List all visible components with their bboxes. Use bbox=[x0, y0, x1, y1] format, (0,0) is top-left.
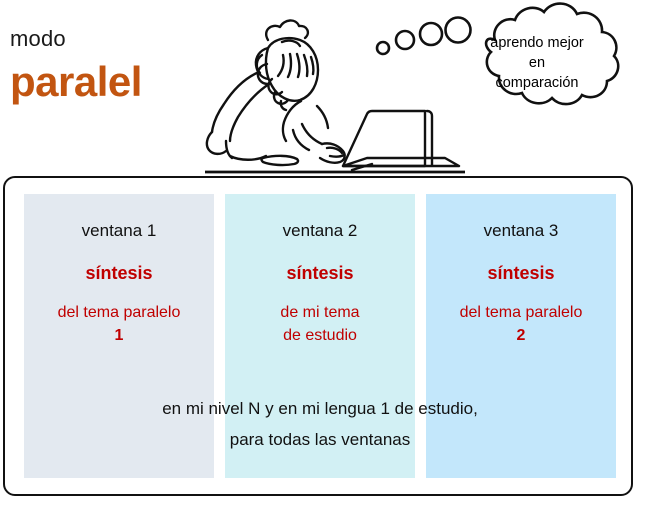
header-area: modo paralel bbox=[0, 0, 657, 176]
synthesis-detail-2-line-1: de mi tema bbox=[225, 301, 415, 324]
window-column-3[interactable]: ventana 3 síntesis del tema paralelo 2 bbox=[426, 194, 616, 478]
synthesis-detail-3-line-1: del tema paralelo bbox=[426, 301, 616, 324]
mode-name: paralel bbox=[10, 58, 220, 106]
windows-columns: ventana 1 síntesis del tema paralelo 1 v… bbox=[24, 194, 616, 478]
synthesis-detail-1-line-2: 1 bbox=[24, 324, 214, 347]
synthesis-detail-2-line-2: de estudio bbox=[225, 324, 415, 347]
window-label-1: ventana 1 bbox=[24, 220, 214, 242]
synthesis-detail-2: de mi tema de estudio bbox=[225, 301, 415, 347]
window-column-2[interactable]: ventana 2 síntesis de mi tema de estudio bbox=[225, 194, 415, 478]
synthesis-detail-1-line-1: del tema paralelo bbox=[24, 301, 214, 324]
synthesis-detail-1: del tema paralelo 1 bbox=[24, 301, 214, 347]
window-label-3: ventana 3 bbox=[426, 220, 616, 242]
title-block: modo paralel bbox=[10, 26, 220, 106]
synthesis-heading-1: síntesis bbox=[24, 262, 214, 285]
window-label-2: ventana 2 bbox=[225, 220, 415, 242]
window-column-1[interactable]: ventana 1 síntesis del tema paralelo 1 bbox=[24, 194, 214, 478]
mode-label: modo bbox=[10, 26, 220, 52]
synthesis-heading-2: síntesis bbox=[225, 262, 415, 285]
thought-bubble-icon bbox=[375, 2, 655, 152]
windows-panel: ventana 1 síntesis del tema paralelo 1 v… bbox=[3, 176, 633, 496]
synthesis-heading-3: síntesis bbox=[426, 262, 616, 285]
synthesis-detail-3-line-2: 2 bbox=[426, 324, 616, 347]
synthesis-detail-3: del tema paralelo 2 bbox=[426, 301, 616, 347]
